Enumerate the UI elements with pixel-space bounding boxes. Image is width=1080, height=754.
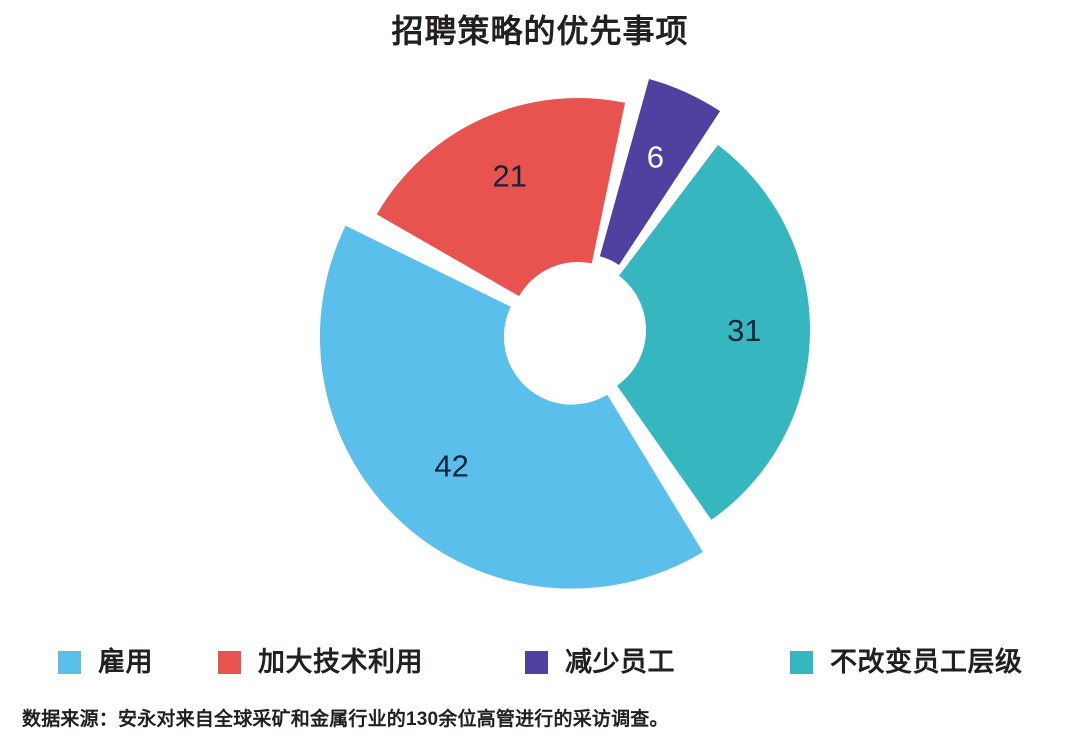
donut-chart-svg: 2163142 xyxy=(0,62,1080,622)
donut-chart: 2163142 xyxy=(0,62,1080,622)
legend-label-reduce-staff: 减少员工 xyxy=(565,647,675,677)
slice-value-label: 6 xyxy=(647,140,664,175)
page-title: 招聘策略的优先事项 xyxy=(0,8,1080,54)
legend-label-hire: 雇用 xyxy=(98,647,153,677)
source-note: 数据来源：安永对来自全球采矿和金属行业的130余位高管进行的采访调查。 xyxy=(22,706,669,734)
legend: 雇用 加大技术利用 减少员工 不改变员工层级 xyxy=(0,640,1080,688)
legend-swatch-reduce-staff xyxy=(525,651,548,674)
legend-swatch-no-change xyxy=(790,651,813,674)
legend-item-no-change[interactable]: 不改变员工层级 xyxy=(790,640,1023,684)
chart-page: 招聘策略的优先事项 2163142 雇用 加大技术利用 减少员工 不改变员工层级… xyxy=(0,0,1080,754)
slice-value-label: 31 xyxy=(727,313,761,348)
slice-value-label: 21 xyxy=(493,158,527,193)
legend-item-reduce-staff[interactable]: 减少员工 xyxy=(525,640,675,684)
legend-item-technology[interactable]: 加大技术利用 xyxy=(218,640,423,684)
legend-label-no-change: 不改变员工层级 xyxy=(830,647,1023,677)
slice-value-label: 42 xyxy=(434,449,468,484)
legend-item-hire[interactable]: 雇用 xyxy=(58,640,153,684)
footnote-area: 数据来源：安永对来自全球采矿和金属行业的130余位高管进行的采访调查。 xyxy=(0,700,1080,754)
legend-swatch-hire xyxy=(58,651,81,674)
legend-swatch-technology xyxy=(218,651,241,674)
legend-label-technology: 加大技术利用 xyxy=(258,647,423,677)
